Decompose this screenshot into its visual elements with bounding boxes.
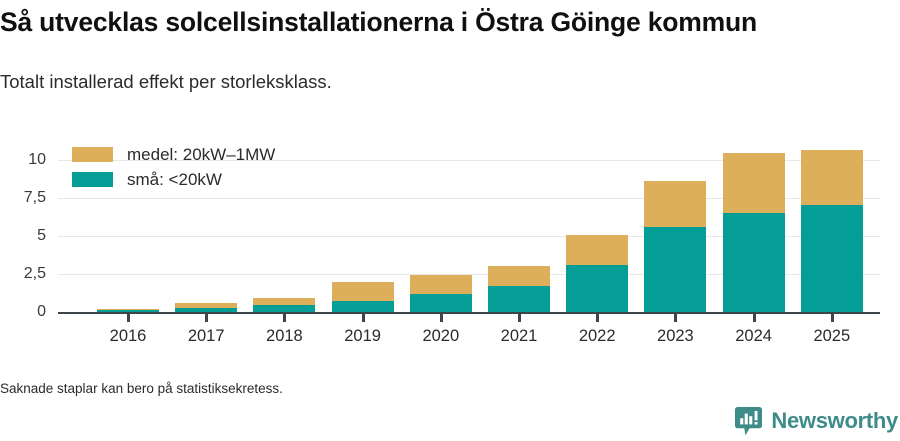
legend-label-small: små: <20kW — [127, 170, 222, 190]
bar-segment-small[interactable] — [332, 301, 394, 312]
chart-legend: medel: 20kW–1MWsmå: <20kW — [72, 142, 275, 192]
x-axis-tick-label-2017: 2017 — [167, 327, 245, 345]
brand-wordmark: Newsworthy — [771, 409, 898, 433]
bar-segment-medium[interactable] — [332, 282, 394, 301]
x-axis-tick-mark — [596, 313, 599, 322]
bar-stack-2019[interactable] — [332, 282, 394, 312]
bar-stack-2016[interactable] — [97, 309, 159, 312]
y-axis-tick-label: 2,5 — [0, 266, 46, 282]
bar-stack-2022[interactable] — [566, 235, 628, 312]
legend-item-small[interactable]: små: <20kW — [72, 167, 275, 192]
bar-segment-small[interactable] — [644, 227, 706, 312]
x-axis-tick-label-2025: 2025 — [793, 327, 871, 345]
bar-stack-2023[interactable] — [644, 181, 706, 312]
newsworthy-bubble-chart-icon — [735, 407, 762, 436]
bar-stack-2025[interactable] — [801, 150, 863, 312]
bar-segment-small[interactable] — [723, 213, 785, 312]
x-axis-tick-mark — [283, 313, 286, 322]
x-axis-line — [58, 312, 880, 314]
x-axis-tick-label-2018: 2018 — [245, 327, 323, 345]
plot-area: 02,557,510201620172018201920202021202220… — [0, 0, 900, 439]
newsworthy-brand: Newsworthy — [735, 406, 898, 436]
bar-segment-small[interactable] — [97, 310, 159, 312]
bar-segment-small[interactable] — [175, 308, 237, 312]
x-axis-tick-mark — [518, 313, 521, 322]
legend-label-medium: medel: 20kW–1MW — [127, 145, 275, 165]
chart-page: Så utvecklas solcellsinstallationerna i … — [0, 0, 900, 439]
bar-segment-medium[interactable] — [488, 266, 550, 286]
x-axis-tick-mark — [362, 313, 365, 322]
bar-stack-2020[interactable] — [410, 275, 472, 312]
bar-segment-small[interactable] — [253, 305, 315, 312]
bar-segment-medium[interactable] — [644, 181, 706, 227]
x-axis-tick-mark — [674, 313, 677, 322]
x-axis-tick-label-2016: 2016 — [89, 327, 167, 345]
y-axis-tick-label: 10 — [0, 152, 46, 168]
bar-segment-small[interactable] — [566, 265, 628, 312]
legend-swatch-medium — [72, 147, 113, 162]
bar-segment-small[interactable] — [410, 294, 472, 312]
x-axis-tick-mark — [205, 313, 208, 322]
x-axis-tick-label-2022: 2022 — [558, 327, 636, 345]
bar-segment-small[interactable] — [488, 286, 550, 312]
x-axis-tick-label-2020: 2020 — [402, 327, 480, 345]
bar-segment-medium[interactable] — [801, 150, 863, 206]
bar-segment-medium[interactable] — [410, 275, 472, 293]
bar-segment-medium[interactable] — [566, 235, 628, 265]
bar-stack-2021[interactable] — [488, 266, 550, 312]
bar-stack-2024[interactable] — [723, 153, 785, 312]
x-axis-tick-label-2021: 2021 — [480, 327, 558, 345]
legend-item-medium[interactable]: medel: 20kW–1MW — [72, 142, 275, 167]
y-axis-tick-label: 0 — [0, 304, 46, 320]
y-axis-tick-label: 7,5 — [0, 190, 46, 206]
x-axis-tick-label-2023: 2023 — [636, 327, 714, 345]
x-axis-tick-mark — [440, 313, 443, 322]
x-axis-tick-mark — [753, 313, 756, 322]
x-axis-tick-mark — [127, 313, 130, 322]
bar-segment-medium[interactable] — [723, 153, 785, 213]
x-axis-tick-mark — [831, 313, 834, 322]
bar-stack-2018[interactable] — [253, 298, 315, 312]
bar-stack-2017[interactable] — [175, 303, 237, 312]
bar-segment-small[interactable] — [801, 205, 863, 312]
x-axis-tick-label-2024: 2024 — [715, 327, 793, 345]
chart-footnote: Saknade staplar kan bero på statistiksek… — [0, 380, 283, 398]
x-axis-tick-label-2019: 2019 — [324, 327, 402, 345]
bar-segment-medium[interactable] — [253, 298, 315, 306]
y-axis-tick-label: 5 — [0, 228, 46, 244]
legend-swatch-small — [72, 172, 113, 187]
